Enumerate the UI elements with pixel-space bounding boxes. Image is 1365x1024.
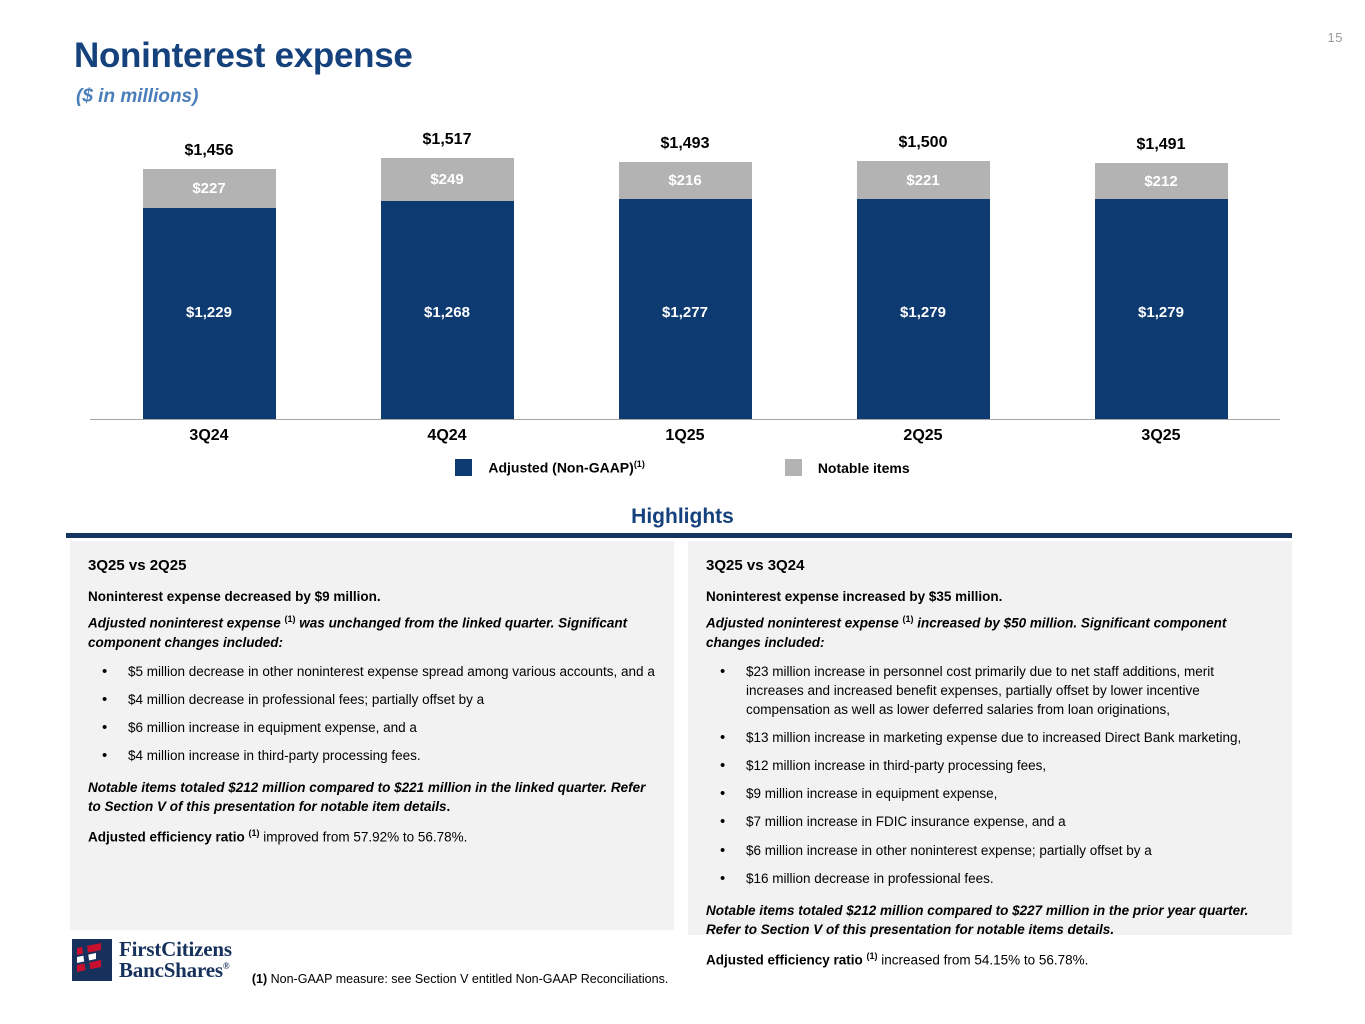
bar-segment-adjusted[interactable]: $1,279 <box>857 199 990 419</box>
chart-x-axis: 3Q24 4Q24 1Q25 2Q25 3Q25 <box>90 427 1280 445</box>
first-citizens-logo-icon <box>70 936 114 984</box>
list-item: $23 million increase in personnel cost p… <box>706 662 1274 719</box>
legend-swatch-notable-icon <box>785 459 802 476</box>
highlights-panels: 3Q25 vs 2Q25 Noninterest expense decreas… <box>70 541 1292 935</box>
bar-segment-adjusted-label: $1,268 <box>424 304 470 321</box>
bar-segment-notable[interactable]: $249 <box>381 158 514 201</box>
bar-segment-notable[interactable]: $221 <box>857 161 990 199</box>
footnote: (1) Non-GAAP measure: see Section V enti… <box>252 972 668 986</box>
bar-total-label: $1,491 <box>1137 136 1186 154</box>
bar-segment-notable[interactable]: $212 <box>1095 163 1228 199</box>
bar-segment-notable[interactable]: $216 <box>619 162 752 199</box>
bar-segment-adjusted-label: $1,279 <box>900 304 946 321</box>
bar-segment-notable-label: $227 <box>192 180 225 197</box>
footnote-marker: (1) <box>249 828 260 838</box>
legend-footnote-marker: (1) <box>634 459 645 469</box>
list-item: $6 million increase in other noninterest… <box>706 841 1274 860</box>
footnote-marker: (1) <box>285 614 296 624</box>
legend-label-notable: Notable items <box>818 460 910 476</box>
legend-item-adjusted[interactable]: Adjusted (Non-GAAP)(1) <box>455 459 644 476</box>
page-subtitle: ($ in millions) <box>76 86 198 108</box>
list-item: $4 million decrease in professional fees… <box>88 690 656 709</box>
brand-logo-line2: BancShares® <box>119 960 232 981</box>
list-item: $6 million increase in equipment expense… <box>88 718 656 737</box>
bar-segment-adjusted[interactable]: $1,268 <box>381 201 514 419</box>
panel-left-lead-italic: Adjusted noninterest expense (1) was unc… <box>88 613 656 652</box>
list-item: $4 million increase in third-party proce… <box>88 746 656 765</box>
x-tick-label: 3Q25 <box>1095 427 1228 445</box>
bar-segment-adjusted[interactable]: $1,279 <box>1095 199 1228 419</box>
bar-segment-notable-label: $221 <box>906 172 939 189</box>
list-item: $7 million increase in FDIC insurance ex… <box>706 812 1274 831</box>
brand-logo: FirstCitizens BancShares® <box>70 936 232 984</box>
panel-right-lead-italic: Adjusted noninterest expense (1) increas… <box>706 613 1274 652</box>
bar-total-label: $1,517 <box>423 131 472 149</box>
footnote-marker: (1) <box>252 972 267 986</box>
list-item: $12 million increase in third-party proc… <box>706 756 1274 775</box>
brand-logo-text: FirstCitizens BancShares® <box>119 939 232 980</box>
bar-group-4Q24[interactable]: $1,517 $249 $1,268 <box>381 131 514 419</box>
bar-segment-notable-label: $212 <box>1144 173 1177 190</box>
panel-right-header: 3Q25 vs 3Q24 <box>706 557 1274 574</box>
footnote-marker: (1) <box>903 614 914 624</box>
stacked-bar-chart: $1,456 $227 $1,229 $1,517 $249 $1,268 $1… <box>90 130 1280 420</box>
bar-total-label: $1,456 <box>185 142 234 160</box>
bar-group-3Q24[interactable]: $1,456 $227 $1,229 <box>143 142 276 419</box>
panel-right-bullets: $23 million increase in personnel cost p… <box>706 662 1274 888</box>
list-item: $9 million increase in equipment expense… <box>706 784 1274 803</box>
legend-label-adjusted: Adjusted (Non-GAAP)(1) <box>488 459 644 476</box>
x-tick-label: 2Q25 <box>857 427 990 445</box>
panel-right-lead: Noninterest expense increased by $35 mil… <box>706 588 1274 606</box>
bar-group-1Q25[interactable]: $1,493 $216 $1,277 <box>619 135 752 419</box>
panel-left-lead: Noninterest expense decreased by $9 mill… <box>88 588 656 606</box>
list-item: $13 million increase in marketing expens… <box>706 728 1274 747</box>
panel-left-header: 3Q25 vs 2Q25 <box>88 557 656 574</box>
registered-mark-icon: ® <box>223 961 230 971</box>
brand-logo-line1: FirstCitizens <box>119 939 232 960</box>
legend-item-notable[interactable]: Notable items <box>785 459 910 476</box>
page-title: Noninterest expense <box>74 38 413 73</box>
highlights-heading: Highlights <box>0 505 1365 529</box>
highlights-panel-right: 3Q25 vs 3Q24 Noninterest expense increas… <box>688 541 1292 935</box>
list-item: $5 million decrease in other noninterest… <box>88 662 656 681</box>
bar-segment-notable-label: $216 <box>668 172 701 189</box>
panel-left-bullets: $5 million decrease in other noninterest… <box>88 662 656 766</box>
bar-segment-notable[interactable]: $227 <box>143 169 276 208</box>
chart-bars: $1,456 $227 $1,229 $1,517 $249 $1,268 $1… <box>90 130 1280 419</box>
panel-left-notable-note: Notable items totaled $212 million compa… <box>88 779 656 817</box>
bar-segment-adjusted-label: $1,279 <box>1138 304 1184 321</box>
x-tick-label: 3Q24 <box>143 427 276 445</box>
bar-total-label: $1,493 <box>661 135 710 153</box>
panel-right-notable-note: Notable items totaled $212 million compa… <box>706 902 1274 940</box>
bar-segment-adjusted[interactable]: $1,229 <box>143 208 276 419</box>
bar-segment-adjusted-label: $1,229 <box>186 304 232 321</box>
slide-footer: FirstCitizens BancShares® (1) Non-GAAP m… <box>70 936 668 986</box>
bar-total-label: $1,500 <box>899 134 948 152</box>
chart-legend: Adjusted (Non-GAAP)(1) Notable items <box>0 459 1365 476</box>
panel-left-efficiency: Adjusted efficiency ratio (1) improved f… <box>88 827 656 847</box>
bar-segment-adjusted[interactable]: $1,277 <box>619 199 752 419</box>
bar-group-2Q25[interactable]: $1,500 $221 $1,279 <box>857 134 990 419</box>
legend-swatch-adjusted-icon <box>455 459 472 476</box>
bar-segment-adjusted-label: $1,277 <box>662 304 708 321</box>
page-number: 15 <box>1328 30 1343 45</box>
bar-group-3Q25[interactable]: $1,491 $212 $1,279 <box>1095 136 1228 419</box>
highlights-panel-left: 3Q25 vs 2Q25 Noninterest expense decreas… <box>70 541 674 930</box>
panel-right-efficiency: Adjusted efficiency ratio (1) increased … <box>706 950 1274 970</box>
x-tick-label: 1Q25 <box>619 427 752 445</box>
chart-axis-line <box>90 419 1280 420</box>
list-item: $16 million decrease in professional fee… <box>706 869 1274 888</box>
footnote-marker: (1) <box>867 951 878 961</box>
highlights-divider <box>66 533 1292 538</box>
x-tick-label: 4Q24 <box>381 427 514 445</box>
bar-segment-notable-label: $249 <box>430 171 463 188</box>
